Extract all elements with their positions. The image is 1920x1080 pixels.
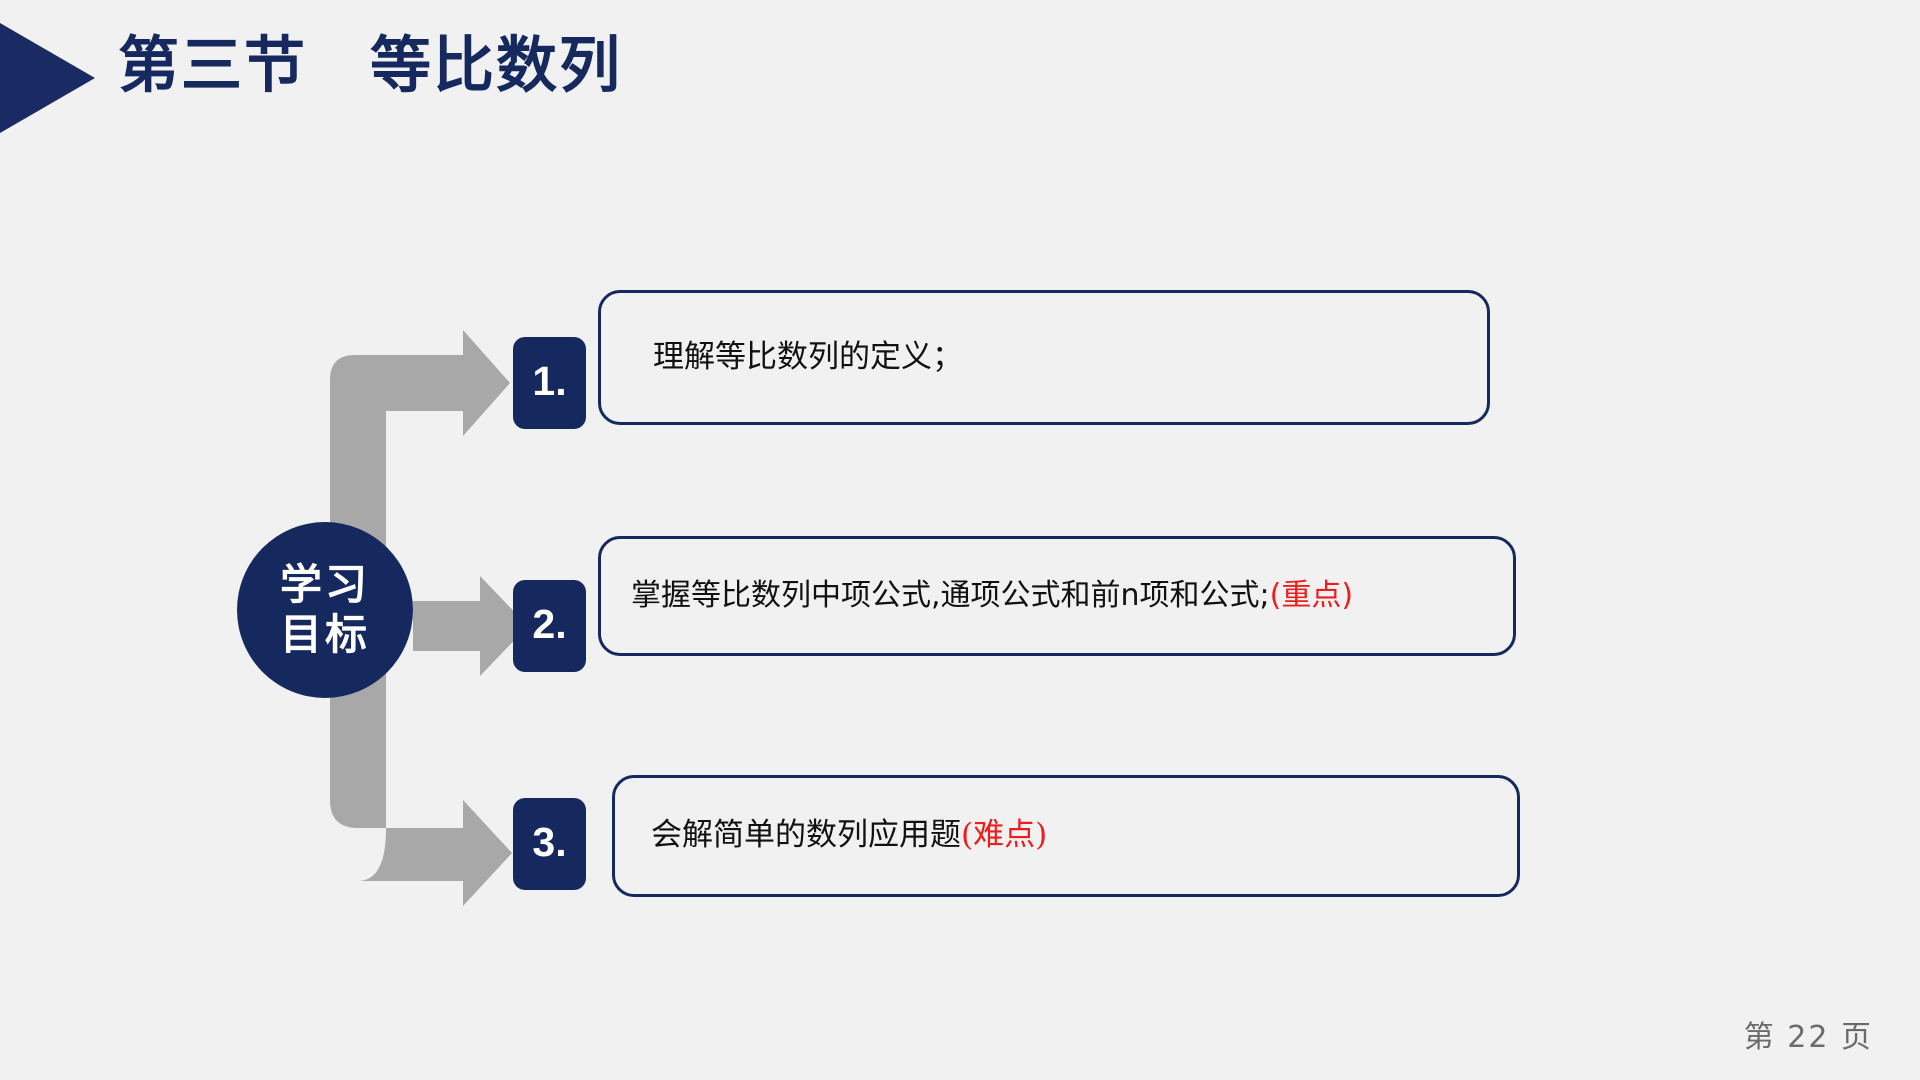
- triangle-right-icon: [0, 23, 95, 133]
- elbow-arrow-down-icon: [330, 665, 512, 906]
- goal-box-3: 会解简单的数列应用题(难点): [612, 775, 1520, 897]
- goal-text-1-main: 理解等比数列的定义；: [653, 339, 963, 375]
- goal-badge-2: 2.: [513, 580, 586, 672]
- goal-box-2: 掌握等比数列中项公式,通项公式和前n项和公式;(重点): [598, 536, 1516, 656]
- goal-text-2: 掌握等比数列中项公式,通项公式和前n项和公式;(重点): [601, 575, 1353, 617]
- learning-goal-circle: 学习 目标: [237, 522, 413, 698]
- goal-circle-line-1: 学习: [280, 560, 370, 610]
- goal-text-2-main: 掌握等比数列中项公式,通项公式和前n项和公式;: [631, 578, 1270, 613]
- goal-box-1: 理解等比数列的定义；: [598, 290, 1490, 425]
- goal-badge-1: 1.: [513, 337, 586, 429]
- goal-text-3: 会解简单的数列应用题(难点): [615, 814, 1047, 857]
- goal-badge-3: 3.: [513, 798, 586, 890]
- page-number: 第 22 页: [1744, 1012, 1873, 1056]
- goal-text-3-main: 会解简单的数列应用题: [651, 817, 961, 853]
- goal-circle-line-2: 目标: [280, 610, 370, 660]
- goal-text-1: 理解等比数列的定义；: [601, 336, 963, 379]
- goal-text-2-accent: (重点): [1270, 578, 1353, 613]
- elbow-arrow-up-icon: [330, 330, 510, 560]
- page-title: 第三节 等比数列: [118, 28, 622, 104]
- goal-text-3-accent: (难点): [961, 817, 1047, 853]
- slide-canvas: 第三节 等比数列 学习 目标 1. 理解等比数列的定义； 2. 掌握等比数列中项…: [0, 0, 1920, 1080]
- straight-arrow-middle-icon: [413, 576, 528, 676]
